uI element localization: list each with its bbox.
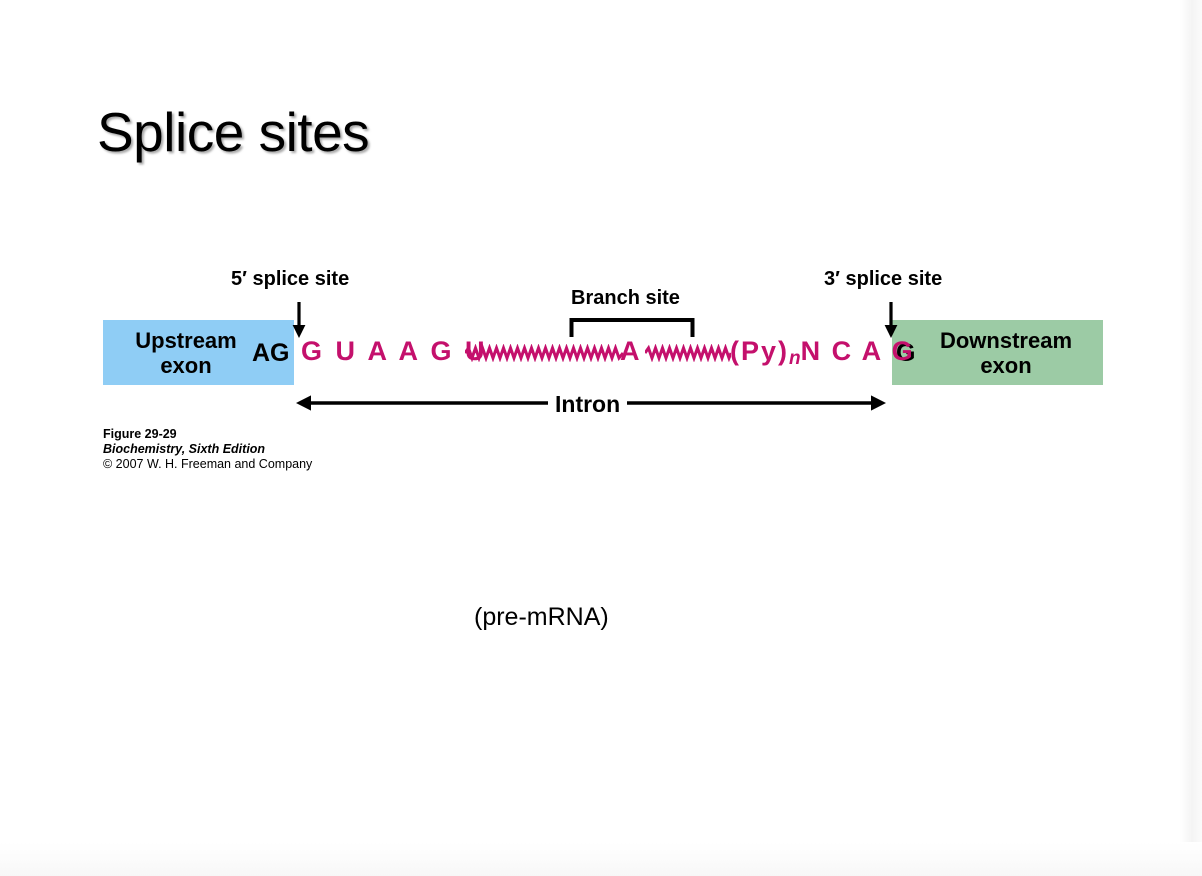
branch-site-label: Branch site: [571, 287, 680, 310]
polypyrimidine-tract-subscript: n: [789, 348, 801, 369]
five-prime-consensus-sequence: G U A A G U: [301, 336, 488, 367]
branch-point-adenosine: A: [620, 336, 640, 367]
intron-squiggle-right: [645, 344, 731, 362]
intron-span-label: Intron: [548, 391, 627, 418]
downstream-exon-label: Downstream exon: [921, 328, 1091, 378]
caption-copyright: © 2007 W. H. Freeman and Company: [103, 457, 312, 472]
five-prime-splice-site-arrow-icon: [290, 302, 308, 338]
branch-site-bracket-icon: [568, 316, 696, 338]
intron-squiggle-left: [465, 344, 623, 362]
upstream-exon-label: Upstream exon: [111, 328, 261, 378]
pre-mrna-label: (pre-mRNA): [474, 603, 609, 632]
figure-source-caption: Figure 29-29 Biochemistry, Sixth Edition…: [103, 427, 312, 471]
upstream-exon-flanking-nucleotides: AG: [252, 339, 290, 368]
downstream-exon-box: Downstream exon: [892, 320, 1103, 385]
three-prime-splice-site-label: 3′ splice site: [824, 268, 942, 291]
three-prime-ncag-label: N C A G: [801, 336, 915, 366]
slide-canvas: Splice sites Upstream exon AG Downstream…: [0, 0, 1202, 876]
three-prime-consensus-sequence: (Py)nN C A G: [730, 336, 915, 370]
five-prime-splice-site-label: 5′ splice site: [231, 268, 349, 291]
caption-figure-number: Figure 29-29: [103, 427, 312, 442]
caption-book-title: Biochemistry, Sixth Edition: [103, 442, 312, 457]
three-prime-splice-site-arrow-icon: [882, 302, 900, 338]
polypyrimidine-tract-label: (Py): [730, 336, 789, 366]
